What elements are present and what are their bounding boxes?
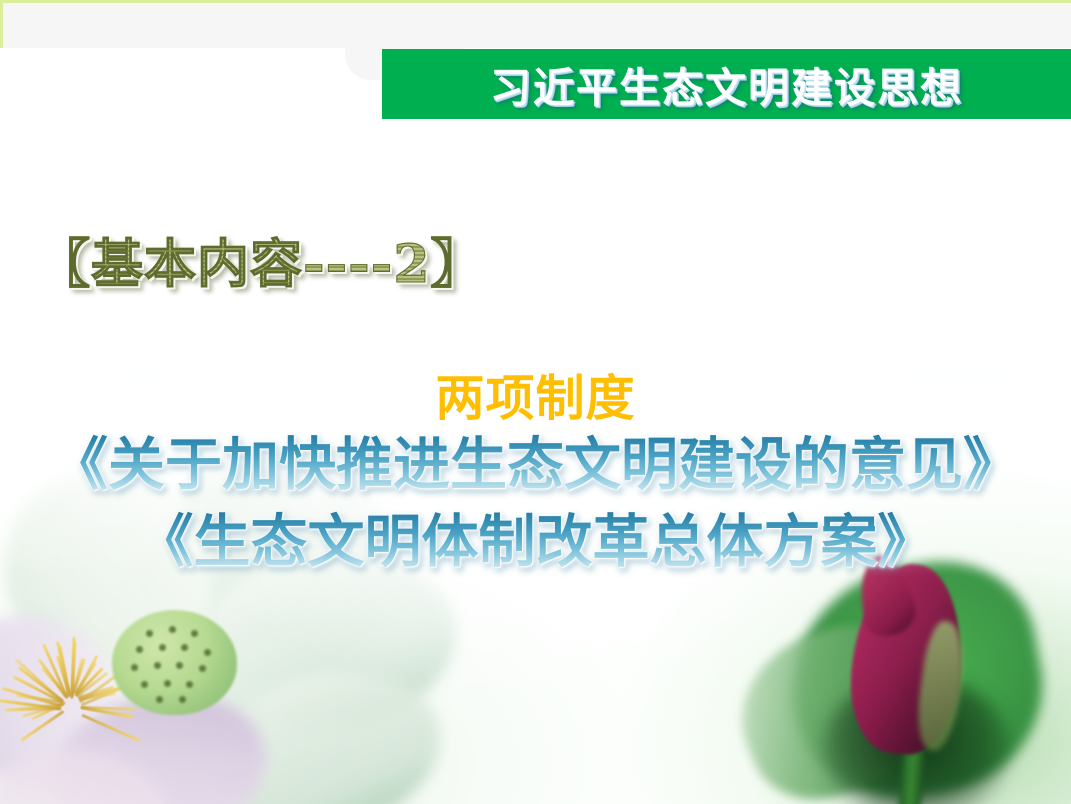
- lotus-stamen: [76, 671, 108, 697]
- lotus-stamen: [0, 699, 60, 711]
- lotus-seed: [186, 681, 193, 688]
- lotus-stamen: [56, 656, 71, 695]
- lotus-stamen: [80, 706, 133, 718]
- lotus-seed: [176, 662, 183, 669]
- lotus-seed: [131, 664, 138, 671]
- lotus-seed: [154, 662, 161, 669]
- bud-body: [843, 559, 970, 759]
- lotus-seed: [146, 630, 153, 637]
- lotus-stamen: [58, 646, 71, 697]
- lotus-stamen: [78, 687, 121, 702]
- lotus-seed: [191, 630, 198, 637]
- body-line-document-title-1: 《关于加快推进生态文明建设的意见》: [0, 427, 1071, 504]
- header-banner: 习近平生态文明建设思想: [382, 49, 1071, 119]
- lotus-seed: [199, 665, 206, 672]
- lotus-stamen: [41, 667, 68, 696]
- leaf-shape: [773, 546, 1059, 804]
- lotus-stamen: [72, 659, 86, 694]
- leaf-shape: [718, 601, 954, 804]
- lotus-stamens: [6, 620, 136, 750]
- lotus-seed: [141, 681, 148, 688]
- lotus-stamen: [80, 680, 136, 706]
- slide-body: 两项制度 《关于加快推进生态文明建设的意见》 《生态文明体制改革总体方案》: [0, 372, 1071, 581]
- lotus-seed-pod: [112, 610, 237, 715]
- lotus-stamen: [56, 641, 71, 698]
- bud-shadow: [821, 676, 1011, 804]
- lotus-seed: [181, 644, 188, 651]
- lotus-petal: [0, 737, 181, 804]
- lotus-stamen: [77, 686, 114, 700]
- lotus-stamen: [31, 702, 66, 721]
- lotus-seed: [159, 644, 166, 651]
- bud-sepal: [912, 619, 970, 753]
- lotus-stamen: [81, 706, 136, 711]
- lotus-stamen: [1, 687, 61, 707]
- lotus-stamen: [80, 706, 131, 719]
- lotus-stamen: [15, 659, 64, 704]
- lotus-stamen: [4, 706, 61, 711]
- section-heading: 〖基本内容----2〗: [38, 222, 484, 297]
- lotus-stamen: [78, 692, 116, 700]
- lotus-stamen: [71, 658, 83, 694]
- bud-stem: [898, 725, 927, 804]
- lotus-seed: [136, 646, 143, 653]
- lotus-stamen: [15, 703, 62, 711]
- lotus-seed: [179, 696, 186, 703]
- lotus-petal: [39, 674, 280, 804]
- lotus-stamen: [74, 655, 98, 697]
- lotus-stamen: [19, 710, 64, 742]
- lotus-stamen: [42, 644, 68, 699]
- top-decorative-band: [0, 0, 1071, 48]
- lotus-stamen: [70, 637, 75, 699]
- lotus-stamen: [16, 694, 63, 704]
- lotus-seed: [204, 649, 211, 656]
- lotus-stamen: [17, 666, 64, 702]
- lotus-seed: [164, 680, 171, 687]
- lotus-stamen: [37, 658, 67, 698]
- body-line-highlight: 两项制度: [0, 372, 1071, 427]
- presentation-slide: 习近平生态文明建设思想 〖基本内容----2〗 两项制度 《关于加快推进生态文明…: [0, 0, 1071, 804]
- lotus-petal: [197, 649, 458, 804]
- lotus-seed: [156, 696, 163, 703]
- lotus-stamen: [70, 642, 76, 698]
- lotus-stamen: [78, 667, 126, 703]
- lotus-seed: [169, 626, 176, 633]
- lotus-stamen: [75, 667, 104, 696]
- body-line-document-title-2: 《生态文明体制改革总体方案》: [0, 504, 1071, 581]
- lotus-petal: [0, 579, 158, 804]
- lotus-stamen: [81, 714, 141, 743]
- lotus-stamen: [21, 703, 64, 718]
- lotus-stamen: [12, 676, 63, 704]
- header-banner-title: 习近平生态文明建设思想: [490, 54, 963, 114]
- lotus-stamen: [73, 662, 96, 695]
